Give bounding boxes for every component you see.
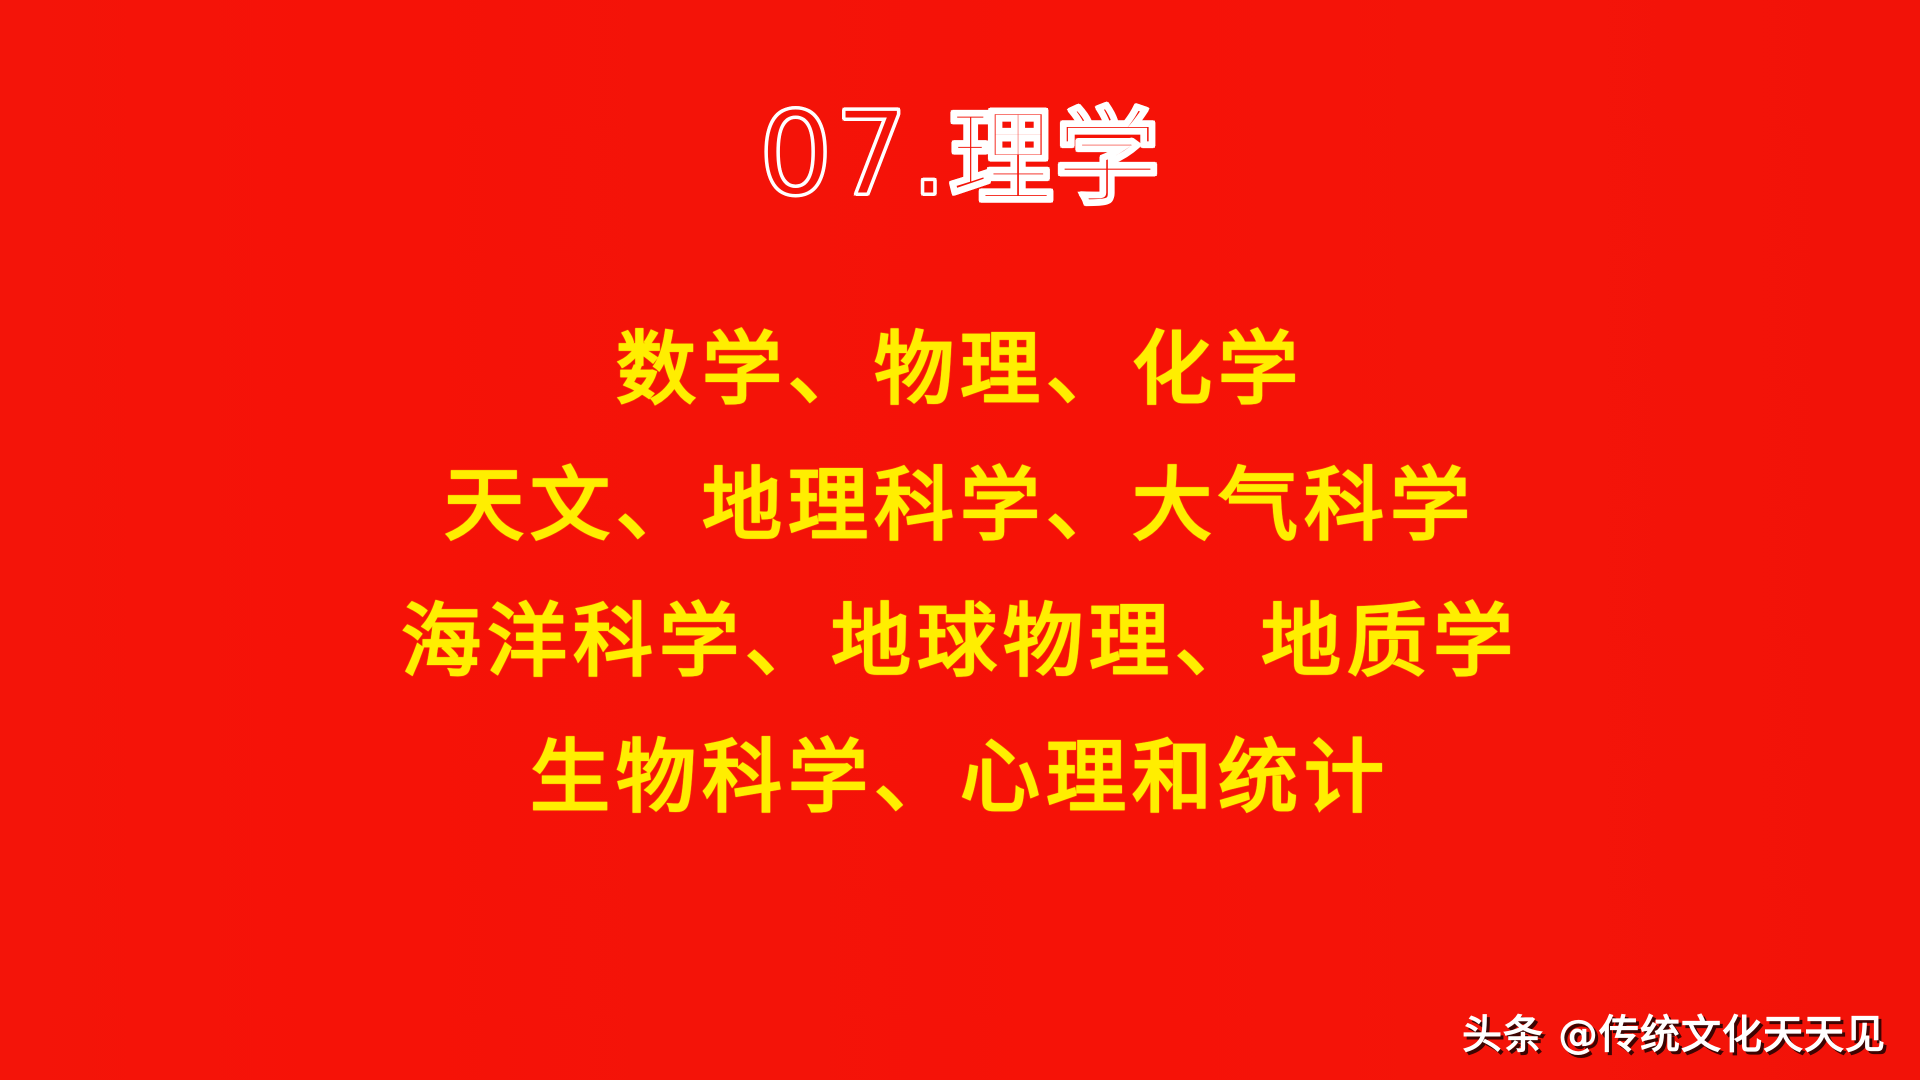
watermark-handle: @传统文化天天见	[1558, 1002, 1886, 1060]
subject-line: 数学、物理、化学	[0, 330, 1920, 410]
subject-list: 数学、物理、化学 天文、地理科学、大气科学 海洋科学、地球物理、地质学 生物科学…	[0, 330, 1920, 818]
subject-line: 天文、地理科学、大气科学	[0, 466, 1920, 546]
subject-line: 生物科学、心理和统计	[0, 738, 1920, 818]
watermark: 头条 @传统文化天天见	[1462, 1002, 1886, 1060]
slide-canvas: 07.理学 数学、物理、化学 天文、地理科学、大气科学 海洋科学、地球物理、地质…	[0, 0, 1920, 1080]
subject-line: 海洋科学、地球物理、地质学	[0, 602, 1920, 682]
watermark-brand: 头条	[1462, 1002, 1544, 1060]
